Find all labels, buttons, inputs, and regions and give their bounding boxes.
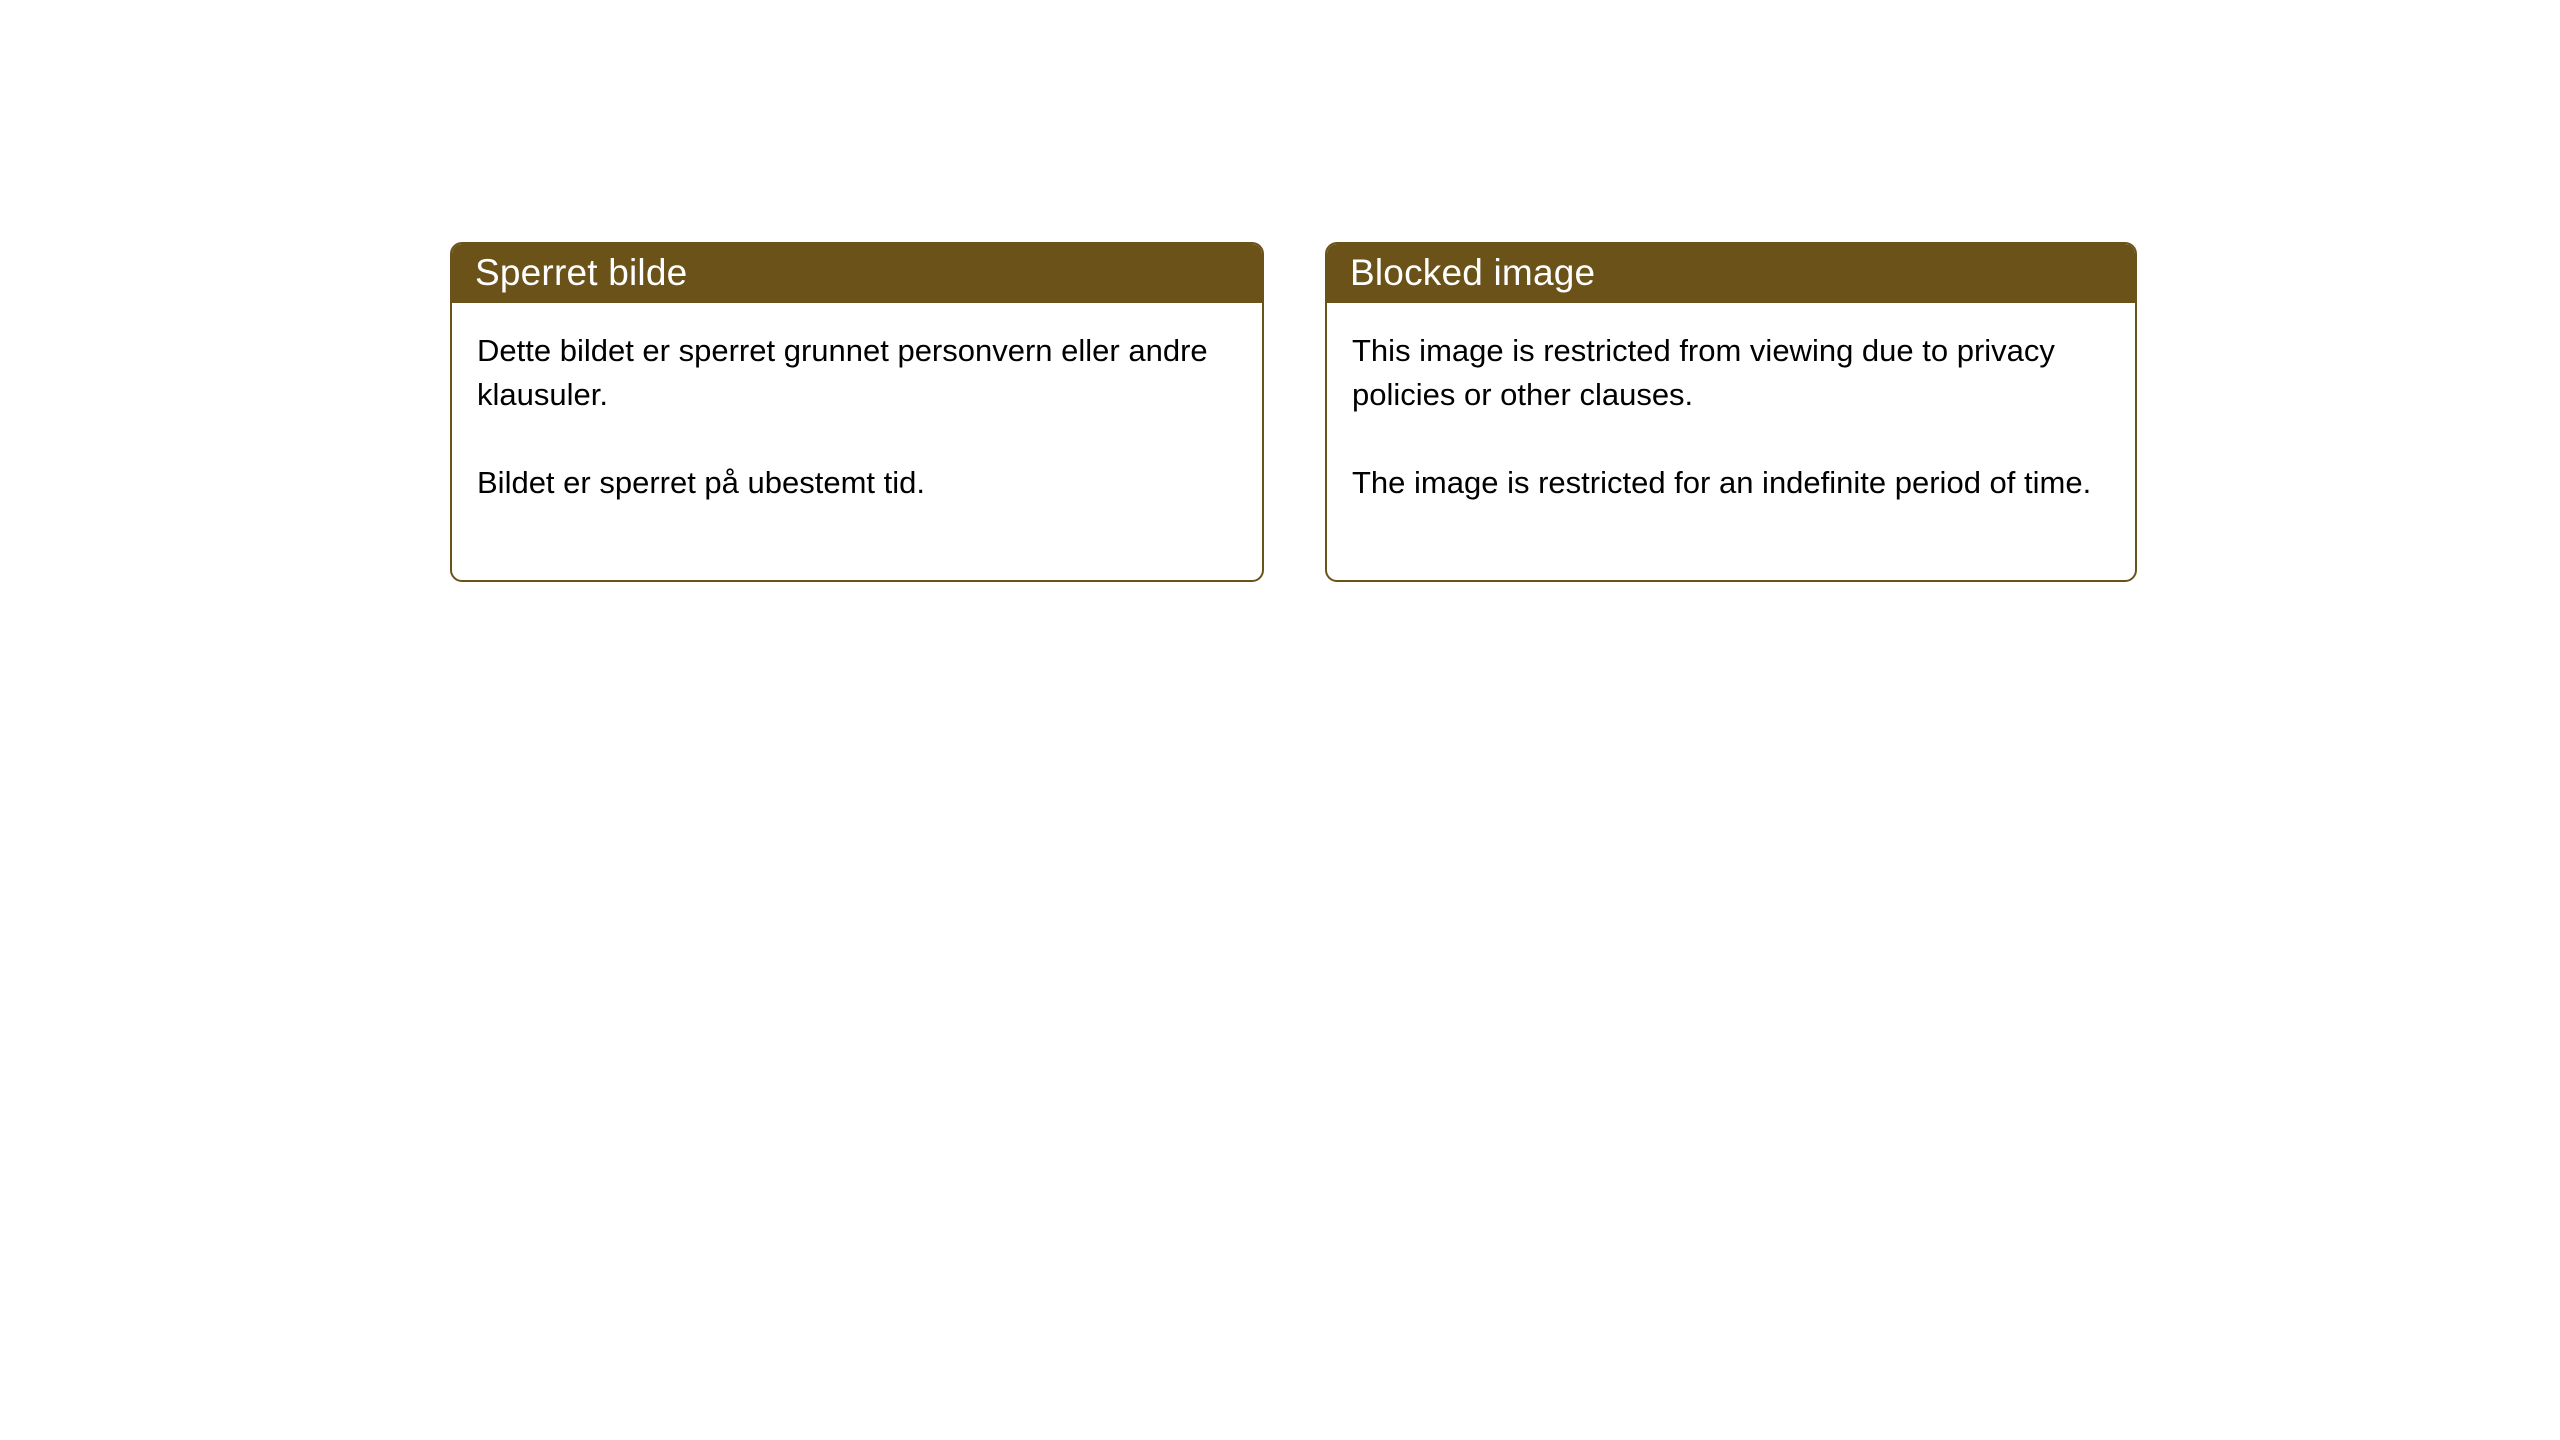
notice-body-norwegian: Dette bildet er sperret grunnet personve…	[452, 303, 1262, 505]
notice-paragraph-duration-norwegian: Bildet er sperret på ubestemt tid.	[477, 461, 1238, 505]
notice-header-norwegian: Sperret bilde	[450, 242, 1264, 303]
blocked-image-notice-english: Blocked image This image is restricted f…	[1325, 242, 2137, 582]
notice-header-english: Blocked image	[1325, 242, 2137, 303]
blocked-image-notice-norwegian: Sperret bilde Dette bildet er sperret gr…	[450, 242, 1264, 582]
notice-body-english: This image is restricted from viewing du…	[1327, 303, 2135, 505]
notice-paragraph-duration-english: The image is restricted for an indefinit…	[1352, 461, 2111, 505]
notice-paragraph-reason-norwegian: Dette bildet er sperret grunnet personve…	[477, 329, 1238, 417]
page-root: Sperret bilde Dette bildet er sperret gr…	[0, 0, 2560, 1440]
notice-paragraph-reason-english: This image is restricted from viewing du…	[1352, 329, 2111, 417]
notice-title-english: Blocked image	[1350, 254, 1595, 291]
notice-title-norwegian: Sperret bilde	[475, 254, 687, 291]
